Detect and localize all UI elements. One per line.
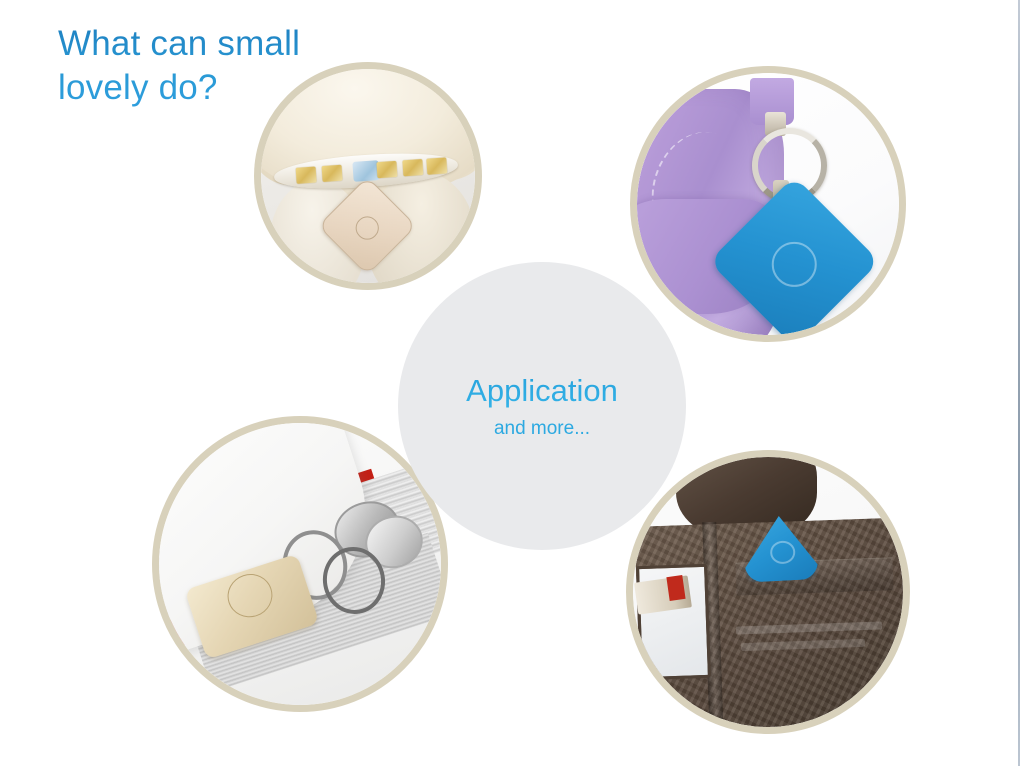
- application-subtitle: and more...: [494, 418, 590, 440]
- collar-gem: [402, 159, 423, 176]
- photo-frame-dog-collar-tracker[interactable]: [254, 62, 482, 290]
- right-edge-divider: [1018, 0, 1020, 766]
- dog-collar-scene: [261, 69, 475, 283]
- photo-frame-keys-tracker[interactable]: [152, 416, 448, 712]
- wallet-card-accent: [666, 575, 685, 601]
- application-bubble[interactable]: Application and more...: [398, 262, 686, 550]
- keys-scene: [159, 423, 441, 705]
- wallet-scene: [633, 457, 903, 727]
- photo-frame-wallet-tracker[interactable]: [626, 450, 910, 734]
- collar-gem: [426, 157, 447, 174]
- photo-frame-handbag-keyring-tracker[interactable]: [630, 66, 906, 342]
- collar-gem: [296, 166, 317, 183]
- slide-canvas: What can small lovely do?: [0, 0, 1024, 766]
- collar-heart-charm: [352, 160, 379, 181]
- collar-gem: [321, 165, 342, 182]
- collar-gem: [376, 161, 397, 178]
- application-title: Application: [466, 373, 618, 409]
- handbag-scene: [637, 73, 899, 335]
